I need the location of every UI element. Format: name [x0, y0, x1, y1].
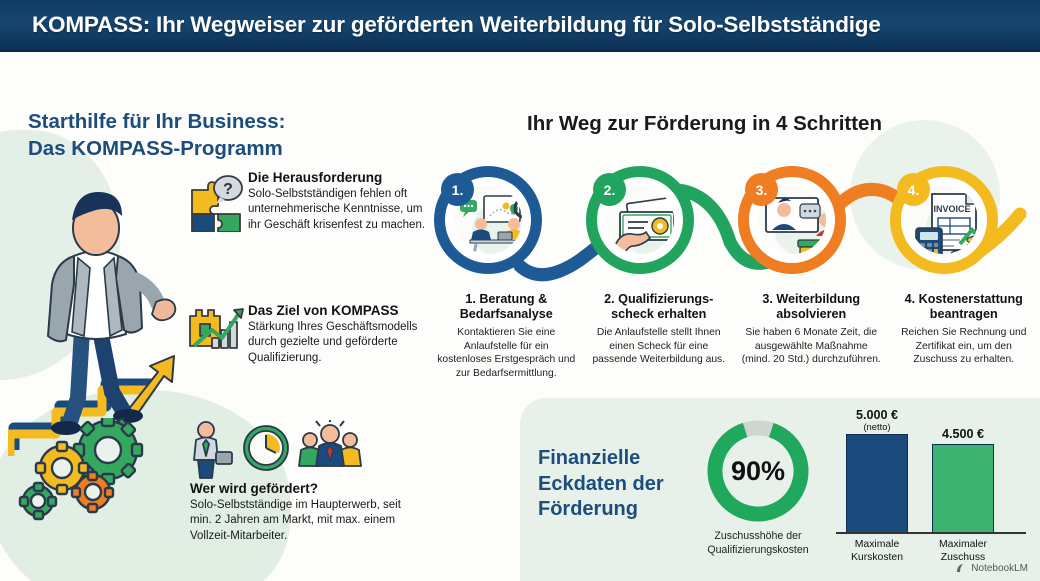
step-2-number-badge: 2. — [593, 173, 626, 206]
step-3-body: Sie haben 6 Monate Zeit, die ausgewählte… — [741, 326, 882, 367]
donut-value-label: 90% — [703, 416, 813, 526]
step-3-caption: 3. Weiterbildung absolvieren Sie haben 6… — [735, 292, 888, 381]
donut-chart: 90% — [703, 416, 813, 526]
people-clock-icon — [186, 420, 366, 480]
feature-body: Solo-Selbstständige im Haupterwerb, seit… — [190, 498, 405, 544]
step-3-heading: 3. Weiterbildung absolvieren — [741, 292, 882, 322]
finance-title-line1: Finanzielle — [538, 446, 664, 472]
svg-text:INVOICE: INVOICE — [933, 204, 970, 214]
step-1-body: Kontaktieren Sie eine Anlaufstelle für e… — [436, 326, 577, 380]
step-3-ring: 3. — [738, 166, 846, 274]
step-4-ring: INVOICE — [890, 166, 998, 274]
steps-chain: 1. 2. — [430, 148, 1040, 293]
bar-value-label: 5.000 € — [846, 408, 908, 422]
page-title: KOMPASS: Ihr Wegweiser zur geförderten W… — [0, 12, 881, 38]
step-2-caption: 2. Qualifizierungs- scheck erhalten Die … — [583, 292, 736, 381]
step-1-number-badge: 1. — [441, 173, 474, 206]
step-1-ring: 1. — [434, 166, 542, 274]
steps-captions: 1. Beratung & Bedarfsanalyse Kontaktiere… — [430, 292, 1040, 381]
businessman-on-stairs-illustration — [8, 160, 208, 460]
feature-heading: Wer wird gefördert? — [190, 481, 405, 496]
feature-heading: Das Ziel von KOMPASS — [248, 303, 438, 318]
infographic-page: KOMPASS: Ihr Wegweiser zur geförderten W… — [0, 0, 1040, 581]
feature-wer-wird-gefoerdert: Wer wird gefördert? Solo-Selbstständige … — [190, 481, 405, 544]
step-4-body: Reichen Sie Rechnung und Zertifikat ein,… — [894, 326, 1035, 367]
steps-section-title: Ihr Weg zur Förderung in 4 Schritten — [527, 112, 882, 136]
step-2-ring: 2. — [586, 166, 694, 274]
finance-panel-title: Finanzielle Eckdaten der Förderung — [538, 446, 664, 523]
step-3-number-badge: 3. — [745, 173, 778, 206]
finance-panel: Finanzielle Eckdaten der Förderung 90% Z… — [520, 398, 1040, 581]
step-4-caption: 4. Kostenerstattung beantragen Reichen S… — [888, 292, 1040, 381]
page-header: KOMPASS: Ihr Wegweiser zur geförderten W… — [0, 0, 1040, 52]
left-panel-title: Starthilfe für Ihr Business: Das KOMPASS… — [28, 108, 285, 162]
castle-growth-chart-icon — [186, 300, 246, 356]
feature-die-herausforderung: Die Herausforderung Solo-Selbstständigen… — [248, 170, 438, 233]
bar-category-label-zuschuss: MaximalerZuschuss — [924, 538, 1002, 564]
feature-heading: Die Herausforderung — [248, 170, 438, 185]
bar-value-sublabel: (netto) — [846, 421, 908, 432]
step-2-body: Die Anlaufstelle stellt Ihnen einen Sche… — [589, 326, 730, 367]
feature-das-ziel-von-kompass: Das Ziel von KOMPASS Stärkung Ihres Gesc… — [248, 303, 438, 366]
step-4-heading: 4. Kostenerstattung beantragen — [894, 292, 1035, 322]
finance-title-line2: Eckdaten der — [538, 472, 664, 498]
donut-caption: Zuschusshöhe der Qualifizierungskosten — [692, 530, 824, 558]
finance-title-line3: Förderung — [538, 497, 664, 523]
watermark-label: NotebookLM — [971, 563, 1028, 574]
step-4-number-badge: 4. — [897, 173, 930, 206]
bar-chart: 5.000 € (netto) 4.500 € MaximaleKurskost… — [832, 404, 1032, 574]
step-1-heading: 1. Beratung & Bedarfsanalyse — [436, 292, 577, 322]
svg-text:?: ? — [223, 181, 233, 198]
puzzle-question-icon: ? — [188, 170, 244, 232]
bar-column-zuschuss: 4.500 € — [932, 427, 994, 534]
feature-body: Stärkung Ihres Geschäftsmodells durch ge… — [248, 320, 438, 366]
gears-illustration — [10, 418, 170, 548]
notebooklm-watermark: NotebookLM — [955, 562, 1028, 574]
donut-caption-line1: Zuschusshöhe der — [692, 530, 824, 544]
step-2-heading: 2. Qualifizierungs- scheck erhalten — [589, 292, 730, 322]
notebooklm-logo-icon — [955, 562, 967, 574]
feature-body: Solo-Selbstständigen fehlen oft unterneh… — [248, 187, 438, 233]
donut-caption-line2: Qualifizierungskosten — [692, 544, 824, 558]
step-1-caption: 1. Beratung & Bedarfsanalyse Kontaktiere… — [430, 292, 583, 381]
bar-rect-kurskosten — [846, 434, 908, 534]
left-panel-title-line1: Starthilfe für Ihr Business: — [28, 108, 285, 135]
bar-rect-zuschuss — [932, 444, 994, 534]
bar-category-label-kurskosten: MaximaleKurskosten — [838, 538, 916, 564]
bar-chart-axis — [836, 532, 1026, 534]
bar-value-label: 4.500 € — [932, 427, 994, 441]
bar-column-kurskosten: 5.000 € (netto) — [846, 408, 908, 534]
donut-chart-container: 90% Zuschusshöhe der Qualifizierungskost… — [692, 416, 824, 558]
left-panel-title-line2: Das KOMPASS-Programm — [28, 135, 285, 162]
